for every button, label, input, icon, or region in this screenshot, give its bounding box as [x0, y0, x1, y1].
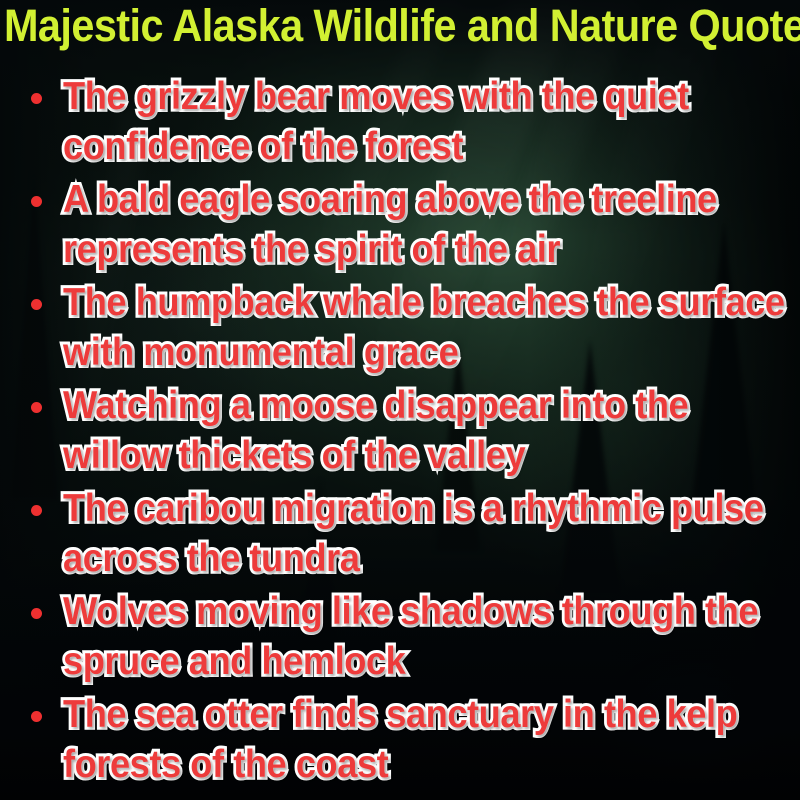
- quote-text: The sea otter finds sanctuary in the kel…: [63, 690, 800, 790]
- quote-text: The humpback whale breaches the surface …: [63, 278, 800, 378]
- bullet-dot-icon: [31, 505, 42, 516]
- quote-card: Majestic Alaska Wildlife and Nature Quot…: [0, 0, 800, 800]
- list-item: Watching a moose disappear into the will…: [0, 381, 800, 481]
- list-item: The caribou migration is a rhythmic puls…: [0, 484, 800, 584]
- bullet-dot-icon: [31, 711, 42, 722]
- bullet-dot-icon: [31, 299, 42, 310]
- list-item: The grizzly bear moves with the quiet co…: [0, 72, 800, 172]
- quote-text: Wolves moving like shadows through the s…: [63, 587, 800, 687]
- list-item: The humpback whale breaches the surface …: [0, 278, 800, 378]
- quote-text: A bald eagle soaring above the treeline …: [63, 175, 800, 275]
- bullet-dot-icon: [31, 402, 42, 413]
- bullet-dot-icon: [31, 93, 42, 104]
- list-item: A bald eagle soaring above the treeline …: [0, 175, 800, 275]
- quote-text: Watching a moose disappear into the will…: [63, 381, 800, 481]
- quote-list: The grizzly bear moves with the quiet co…: [0, 72, 800, 793]
- list-item: The sea otter finds sanctuary in the kel…: [0, 690, 800, 790]
- quote-text: The caribou migration is a rhythmic puls…: [63, 484, 800, 584]
- list-item: Wolves moving like shadows through the s…: [0, 587, 800, 687]
- bullet-dot-icon: [31, 196, 42, 207]
- page-title: Majestic Alaska Wildlife and Nature Quot…: [4, 0, 736, 52]
- bullet-dot-icon: [31, 608, 42, 619]
- quote-text: The grizzly bear moves with the quiet co…: [63, 72, 800, 172]
